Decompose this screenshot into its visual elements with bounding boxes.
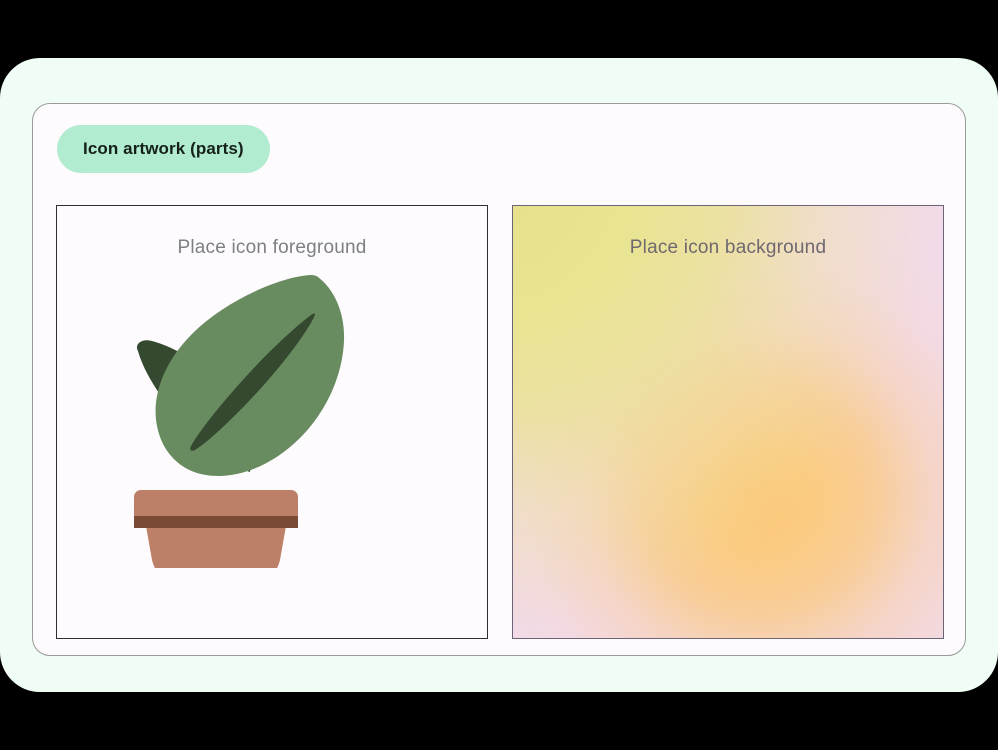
artwork-card: Icon artwork (parts) Place icon foregrou… <box>32 103 966 656</box>
panels-row: Place icon foreground <box>56 205 944 639</box>
badge-icon-artwork-parts: Icon artwork (parts) <box>57 125 270 173</box>
pot-band <box>134 516 298 528</box>
gradient-layer-yellow <box>513 206 943 638</box>
panel-background-label: Place icon background <box>513 237 943 259</box>
panel-icon-background[interactable]: Place icon background <box>512 205 944 639</box>
badge-label: Icon artwork (parts) <box>83 139 244 159</box>
panel-foreground-label: Place icon foreground <box>57 237 487 259</box>
potted-plant-icon <box>122 268 422 568</box>
outer-frame: Icon artwork (parts) Place icon foregrou… <box>0 58 998 692</box>
panel-icon-foreground[interactable]: Place icon foreground <box>56 205 488 639</box>
potted-plant-artwork <box>57 268 487 568</box>
